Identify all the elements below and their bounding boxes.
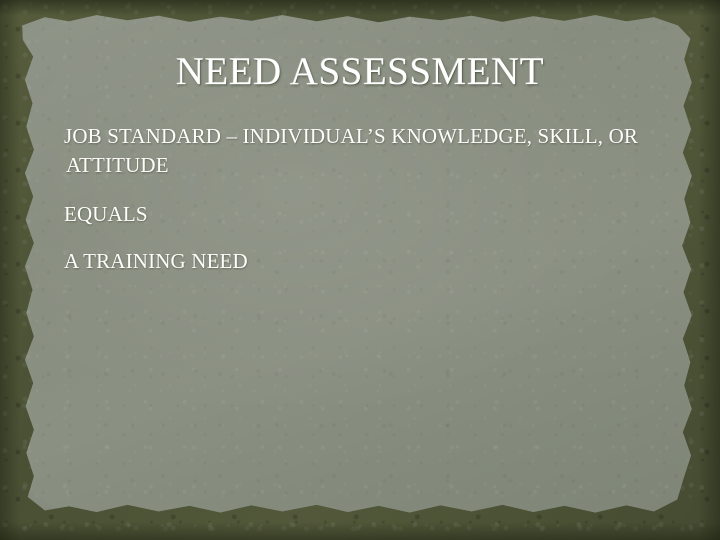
slide-body-text: JOB STANDARD – INDIVIDUAL’S KNOWLEDGE, S… [64, 122, 664, 276]
body-paragraph-3: A TRAINING NEED [64, 247, 664, 276]
presentation-slide: NEED ASSESSMENT JOB STANDARD – INDIVIDUA… [0, 0, 720, 540]
slide-title: NEED ASSESSMENT [0, 52, 720, 93]
body-paragraph-2: EQUALS [64, 200, 664, 229]
slide-content: NEED ASSESSMENT JOB STANDARD – INDIVIDUA… [0, 0, 720, 540]
body-paragraph-1: JOB STANDARD – INDIVIDUAL’S KNOWLEDGE, S… [64, 122, 664, 180]
